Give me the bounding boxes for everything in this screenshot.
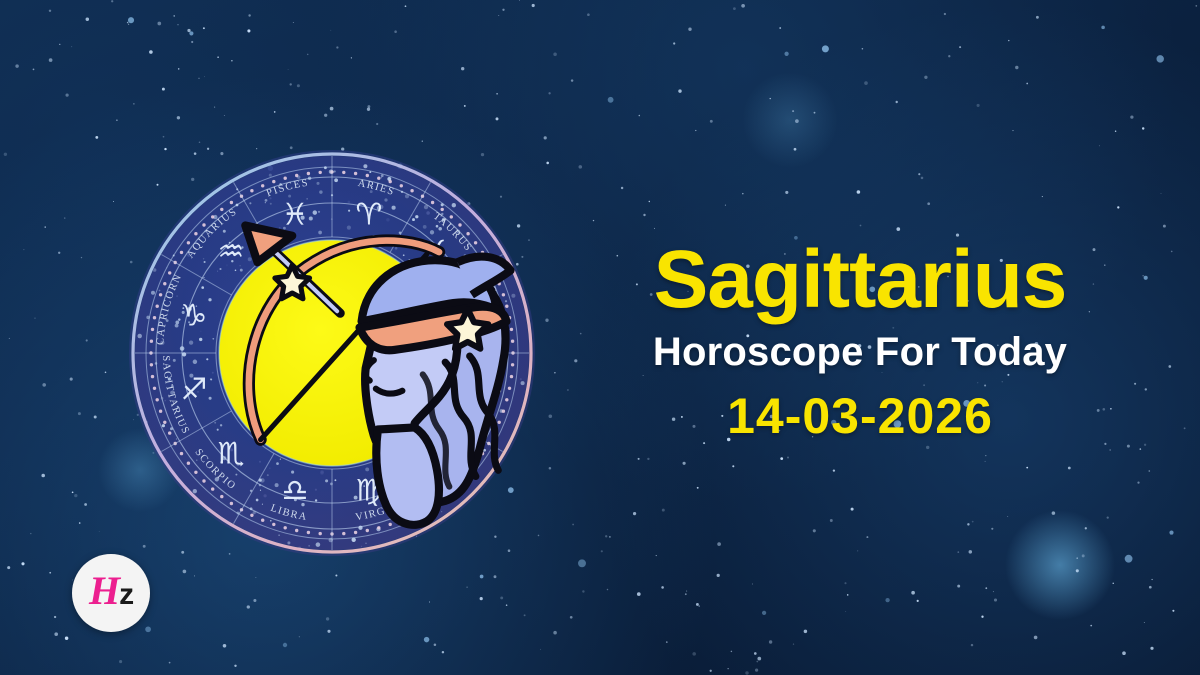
svg-text:♑: ♑: [180, 299, 207, 334]
brand-logo-text: Hz: [89, 571, 133, 611]
brand-logo-letter-h: H: [89, 568, 119, 613]
brand-logo[interactable]: Hz: [72, 554, 150, 632]
svg-text:♈: ♈: [356, 197, 383, 232]
svg-text:♒: ♒: [217, 234, 244, 269]
subtitle: Horoscope For Today: [560, 330, 1160, 375]
zodiac-wheel: ARIESTAURUSGEMINICANCERLEOVIRGOLIBRASCOR…: [125, 146, 539, 560]
brand-logo-letter-z: z: [119, 578, 133, 611]
poster-canvas: ARIESTAURUSGEMINICANCERLEOVIRGOLIBRASCOR…: [0, 0, 1200, 675]
svg-text:♐: ♐: [180, 373, 207, 408]
headline-block: Sagittarius Horoscope For Today 14-03-20…: [560, 240, 1160, 445]
page-title: Sagittarius: [560, 240, 1160, 320]
svg-text:♓: ♓: [282, 197, 309, 232]
svg-text:♏: ♏: [217, 437, 244, 472]
date-label: 14-03-2026: [560, 387, 1160, 445]
svg-text:♎: ♎: [282, 474, 309, 509]
